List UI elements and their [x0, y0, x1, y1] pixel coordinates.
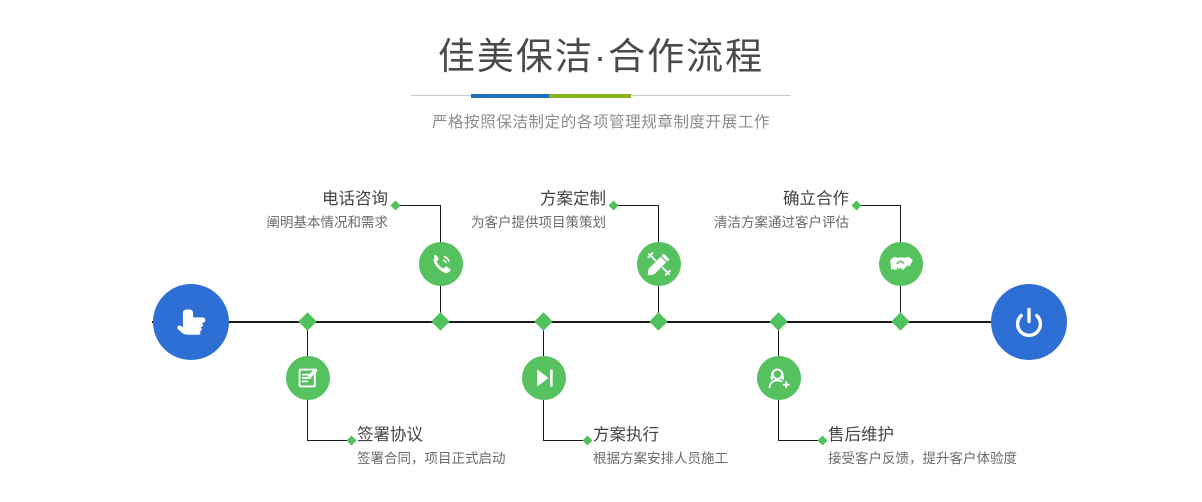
- step-desc-3: 为客户提供项目策策划: [396, 210, 606, 233]
- step-label-2: 签署协议 签署合同，项目正式启动: [357, 424, 587, 470]
- step-node-6[interactable]: [757, 356, 801, 400]
- step-desc-2: 签署合同，项目正式启动: [357, 446, 587, 469]
- timeline: 电话咨询 阐明基本情况和需求 签署协议 签署合同，项目正式启动: [0, 0, 1202, 502]
- step-title-4: 方案执行: [593, 424, 823, 446]
- step-node-4[interactable]: [522, 356, 566, 400]
- step-title-2: 签署协议: [357, 424, 587, 446]
- step-label-1: 电话咨询 阐明基本情况和需求: [178, 188, 388, 234]
- step-marker-5: [891, 312, 909, 330]
- step-desc-4: 根据方案安排人员施工: [593, 446, 823, 469]
- step-title-1: 电话咨询: [178, 188, 388, 210]
- step-title-6: 售后维护: [828, 424, 1088, 446]
- phone-call-icon: [428, 251, 454, 277]
- step-node-2[interactable]: [286, 356, 330, 400]
- pencil-ruler-icon: [646, 251, 672, 277]
- step-lead-2: [307, 440, 351, 441]
- step-marker-1: [431, 312, 449, 330]
- step-tip-5: [852, 201, 862, 211]
- step-title-5: 确立合作: [639, 188, 849, 210]
- step-marker-4: [534, 312, 552, 330]
- play-execute-icon: [531, 365, 557, 391]
- step-label-3: 方案定制 为客户提供项目策策划: [396, 188, 606, 234]
- handshake-icon: [888, 251, 915, 278]
- process-flow-infographic: 佳美保洁·合作流程 严格按照保洁制定的各项管理规章制度开展工作: [0, 0, 1202, 502]
- step-label-6: 售后维护 接受客户反馈，提升客户体验度: [828, 424, 1088, 470]
- step-desc-6: 接受客户反馈，提升客户体验度: [828, 446, 1088, 469]
- step-node-5[interactable]: [879, 242, 923, 286]
- timeline-end-node: [991, 284, 1067, 360]
- headset-support-icon: [766, 365, 792, 391]
- step-tip-3: [609, 201, 619, 211]
- step-desc-5: 清洁方案通过客户评估: [639, 210, 849, 233]
- step-label-4: 方案执行 根据方案安排人员施工: [593, 424, 823, 470]
- step-label-5: 确立合作 清洁方案通过客户评估: [639, 188, 849, 234]
- step-node-1[interactable]: [419, 242, 463, 286]
- step-marker-2: [298, 312, 316, 330]
- step-node-3[interactable]: [637, 242, 681, 286]
- power-icon: [1007, 300, 1051, 344]
- step-tip-2: [347, 436, 357, 446]
- step-lead-5: [857, 205, 901, 206]
- pointing-hand-icon: [169, 300, 213, 344]
- timeline-axis: [152, 321, 1050, 323]
- step-desc-1: 阐明基本情况和需求: [178, 210, 388, 233]
- step-marker-6: [769, 312, 787, 330]
- document-edit-icon: [295, 365, 321, 391]
- step-marker-3: [649, 312, 667, 330]
- step-title-3: 方案定制: [396, 188, 606, 210]
- timeline-start-node: [153, 284, 229, 360]
